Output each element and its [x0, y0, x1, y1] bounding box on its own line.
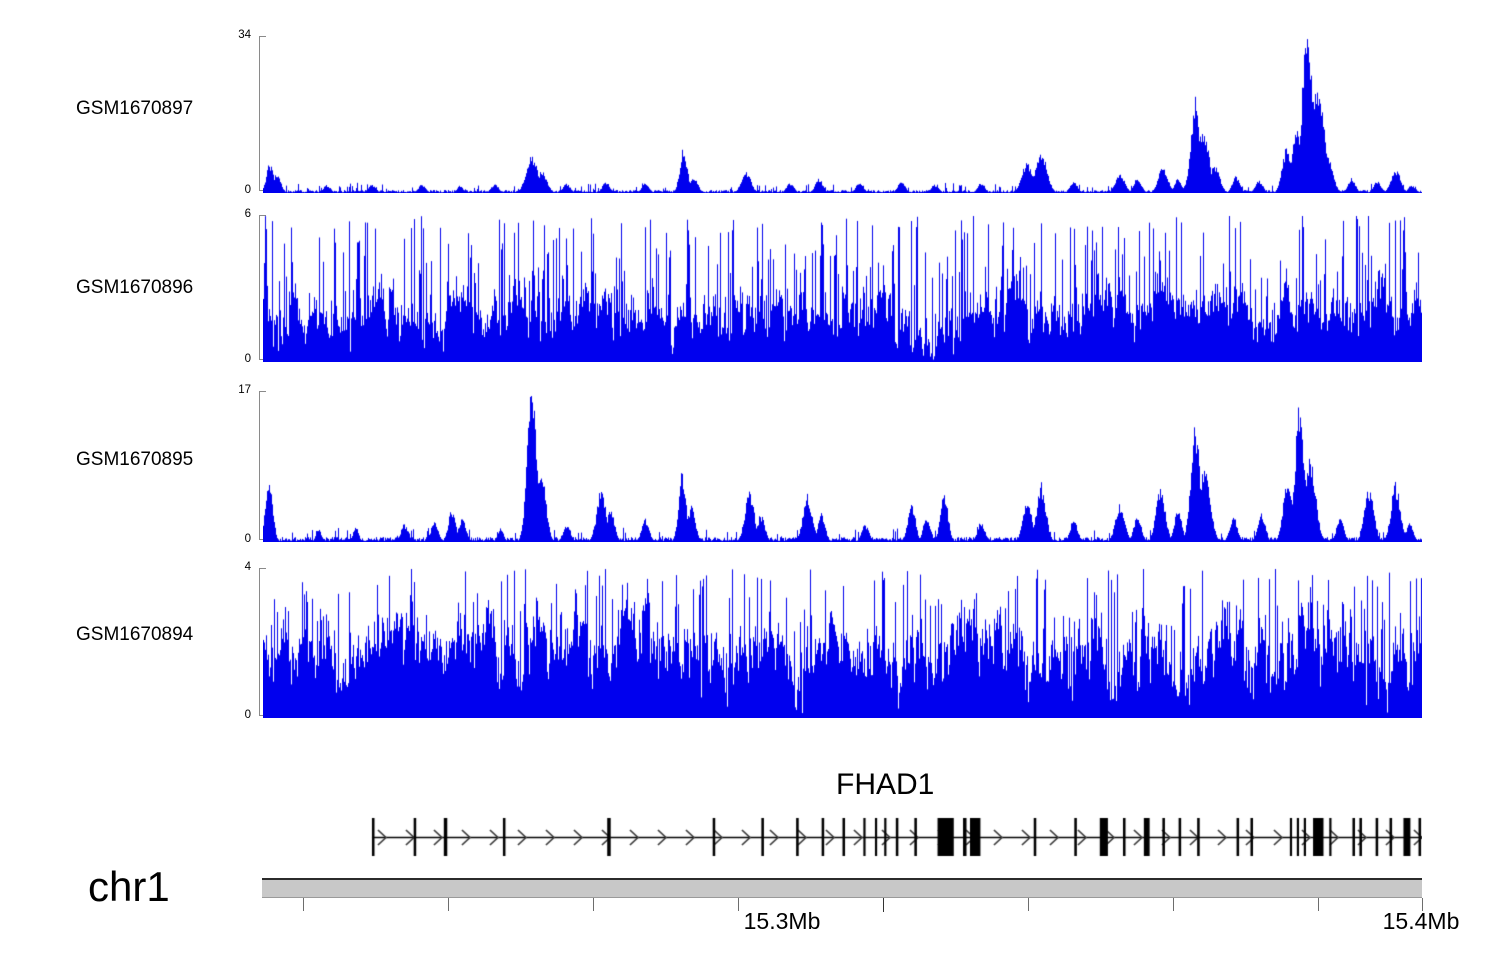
- gene-annotation-track[interactable]: FHAD1: [0, 760, 1500, 870]
- coordinate-labels: 15.3Mb15.4Mb: [0, 910, 1500, 950]
- genome-browser-view: GSM1670897340GSM167089660GSM1670895170GS…: [0, 0, 1500, 980]
- coverage-canvas[interactable]: [263, 568, 1422, 718]
- gene-label: FHAD1: [836, 770, 934, 800]
- coordinate-label: 15.4Mb: [1383, 910, 1460, 933]
- y-axis-min-label: 0: [51, 710, 255, 722]
- y-axis-max-label: 4: [51, 562, 255, 574]
- signal-track: GSM167089440: [0, 0, 1500, 760]
- coordinate-label: 15.3Mb: [744, 910, 821, 933]
- track-label-gsm1670894: GSM1670894: [76, 625, 193, 644]
- gene-model-canvas[interactable]: [263, 808, 1422, 866]
- coverage-plot[interactable]: [263, 568, 1422, 718]
- chromosome-label: chr1: [88, 866, 170, 908]
- chromosome-ideogram-bar[interactable]: [262, 878, 1422, 898]
- gene-model[interactable]: [263, 808, 1422, 866]
